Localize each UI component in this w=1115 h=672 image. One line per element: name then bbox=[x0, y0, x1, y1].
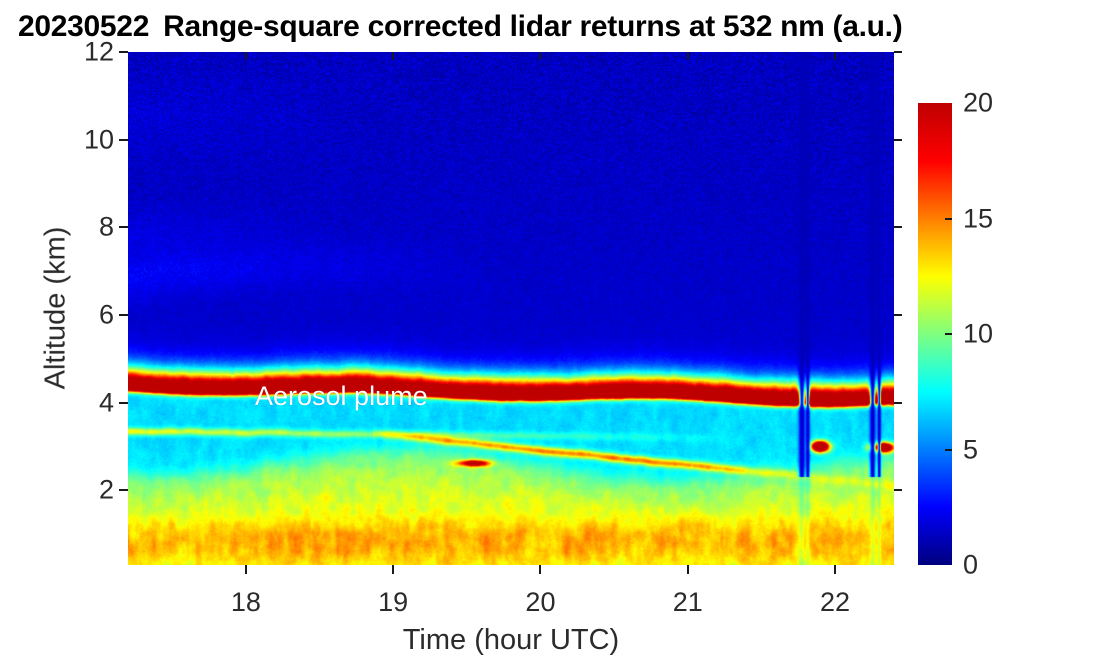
x-tick-21 bbox=[687, 565, 689, 574]
y-tick-6 bbox=[119, 314, 128, 316]
y-tick-2 bbox=[119, 489, 128, 491]
colorbar-tick-label-20: 20 bbox=[963, 88, 993, 119]
x-tick-label-21: 21 bbox=[673, 587, 703, 618]
x-tick-label-19: 19 bbox=[378, 587, 408, 618]
x-tick-top-22 bbox=[834, 52, 836, 60]
y-tick-right-8 bbox=[894, 226, 902, 228]
y-tick-12 bbox=[119, 51, 128, 53]
y-axis-title: Altitude (km) bbox=[40, 227, 73, 390]
colorbar-tick-label-15: 15 bbox=[963, 203, 993, 234]
y-tick-right-12 bbox=[894, 51, 902, 53]
x-tick-top-20 bbox=[539, 52, 541, 60]
x-tick-top-18 bbox=[245, 52, 247, 60]
x-tick-18 bbox=[245, 565, 247, 574]
y-tick-right-2 bbox=[894, 489, 902, 491]
x-tick-22 bbox=[834, 565, 836, 574]
lidar-quicklook-figure: 20230522Range-square corrected lidar ret… bbox=[0, 0, 1115, 672]
page-title: 20230522Range-square corrected lidar ret… bbox=[18, 10, 902, 44]
y-tick-right-4 bbox=[894, 402, 902, 404]
x-tick-label-22: 22 bbox=[820, 587, 850, 618]
title-text: Range-square corrected lidar returns at … bbox=[163, 10, 902, 43]
y-tick-8 bbox=[119, 226, 128, 228]
y-tick-label-10: 10 bbox=[58, 124, 114, 155]
colorbar-tick-label-10: 10 bbox=[963, 319, 993, 350]
y-tick-right-10 bbox=[894, 139, 902, 141]
colorbar-tick-5 bbox=[945, 449, 952, 451]
x-tick-label-18: 18 bbox=[231, 587, 261, 618]
x-tick-top-21 bbox=[687, 52, 689, 60]
x-tick-20 bbox=[539, 565, 541, 574]
lidar-heatmap-canvas bbox=[128, 52, 894, 565]
colorbar-tick-15 bbox=[945, 218, 952, 220]
x-tick-top-19 bbox=[392, 52, 394, 60]
colorbar-tick-label-0: 0 bbox=[963, 550, 978, 581]
x-tick-19 bbox=[392, 565, 394, 574]
y-tick-label-12: 12 bbox=[58, 37, 114, 68]
x-axis-title: Time (hour UTC) bbox=[403, 624, 619, 657]
y-tick-right-6 bbox=[894, 314, 902, 316]
y-tick-label-2: 2 bbox=[58, 475, 114, 506]
x-tick-label-20: 20 bbox=[525, 587, 555, 618]
y-tick-label-4: 4 bbox=[58, 387, 114, 418]
colorbar-tick-label-5: 5 bbox=[963, 434, 978, 465]
heatmap-plot-area bbox=[128, 52, 894, 565]
y-tick-4 bbox=[119, 402, 128, 404]
annotation-aerosol-plume: Aerosol plume bbox=[255, 381, 428, 412]
y-tick-10 bbox=[119, 139, 128, 141]
colorbar-tick-10 bbox=[945, 333, 952, 335]
